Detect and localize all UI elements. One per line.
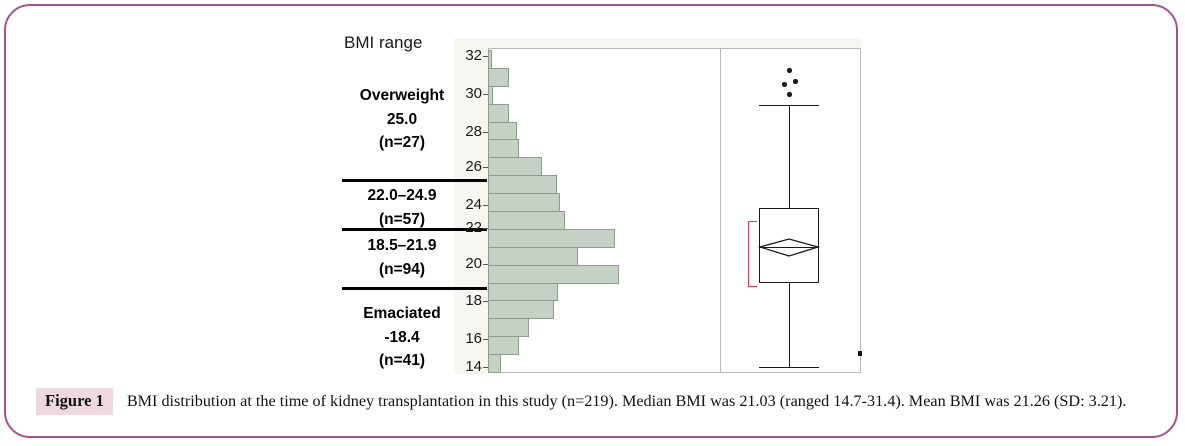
y-tick-label-14: 14 xyxy=(456,358,482,375)
y-tick-label-30: 30 xyxy=(456,85,482,102)
figure-frame: BMI range Overweight 25.0 (n=27) 22.0–24… xyxy=(4,4,1178,438)
histogram-bar xyxy=(488,122,517,141)
histogram-bar xyxy=(488,157,542,176)
y-tick-label-22: 22 xyxy=(456,219,482,236)
panel-top-strip xyxy=(454,38,862,48)
figure-caption-row: Figure 1 BMI distribution at the time of… xyxy=(36,388,1156,415)
category-name: Emaciated xyxy=(342,302,462,326)
y-tick-label-28: 28 xyxy=(456,123,482,140)
y-tick-label-18: 18 xyxy=(456,292,482,309)
figure-number-badge: Figure 1 xyxy=(36,388,113,415)
histogram-bar xyxy=(488,50,492,69)
histogram-bar xyxy=(488,247,578,266)
category-count: (n=27) xyxy=(342,131,462,155)
category-count: (n=41) xyxy=(342,349,462,373)
plot-edge-marker xyxy=(858,351,862,356)
category-block-22-24: 22.0–24.9 (n=57) xyxy=(342,184,462,231)
histogram-bar xyxy=(488,86,493,105)
histogram-bar xyxy=(488,318,529,337)
category-block-18-21: 18.5–21.9 (n=94) xyxy=(342,234,462,281)
category-count: (n=94) xyxy=(342,258,462,282)
category-divider-18-5 xyxy=(342,287,487,290)
boxplot-ci-bracket xyxy=(748,221,757,287)
category-block-overweight: Overweight 25.0 (n=27) xyxy=(342,84,462,155)
histogram-bar xyxy=(488,211,565,230)
histogram-bar xyxy=(488,265,619,284)
chart-title: BMI range xyxy=(344,33,422,53)
histogram-bar xyxy=(488,68,509,87)
histogram-bar xyxy=(488,104,509,123)
y-tick-label-16: 16 xyxy=(456,330,482,347)
boxplot-upper-whisker xyxy=(789,105,790,208)
y-tick-label-26: 26 xyxy=(456,158,482,175)
category-name: Overweight xyxy=(342,84,462,108)
histogram-bar xyxy=(488,139,519,158)
boxplot-outlier-point xyxy=(787,92,792,97)
category-range: 25.0 xyxy=(342,108,462,132)
histogram-bar xyxy=(488,283,558,302)
histogram-bar xyxy=(488,229,615,248)
category-range: 18.5–21.9 xyxy=(342,234,462,258)
y-tick-label-32: 32 xyxy=(456,47,482,64)
boxplot-outlier-point xyxy=(787,68,792,73)
category-block-emaciated: Emaciated -18.4 (n=41) xyxy=(342,302,462,373)
boxplot-lower-whisker-cap xyxy=(759,367,819,368)
category-range: 22.0–24.9 xyxy=(342,184,462,208)
y-tick-label-24: 24 xyxy=(456,196,482,213)
histogram-bar xyxy=(488,175,557,194)
boxplot-mean-diamond xyxy=(756,228,822,264)
histogram-bar xyxy=(488,336,519,355)
chart-region: BMI range Overweight 25.0 (n=27) 22.0–24… xyxy=(6,6,1180,378)
boxplot-outlier-point xyxy=(793,79,798,84)
y-tick-label-20: 20 xyxy=(456,255,482,272)
category-range: -18.4 xyxy=(342,326,462,350)
figure-caption-text: BMI distribution at the time of kidney t… xyxy=(127,388,1156,413)
boxplot-lower-whisker xyxy=(789,283,790,367)
histogram-bar xyxy=(488,354,501,373)
histogram-bar xyxy=(488,193,560,212)
panel-divider xyxy=(720,48,721,373)
histogram-bar xyxy=(488,300,554,319)
boxplot-outlier-point xyxy=(782,82,787,87)
category-divider-25 xyxy=(342,179,487,182)
